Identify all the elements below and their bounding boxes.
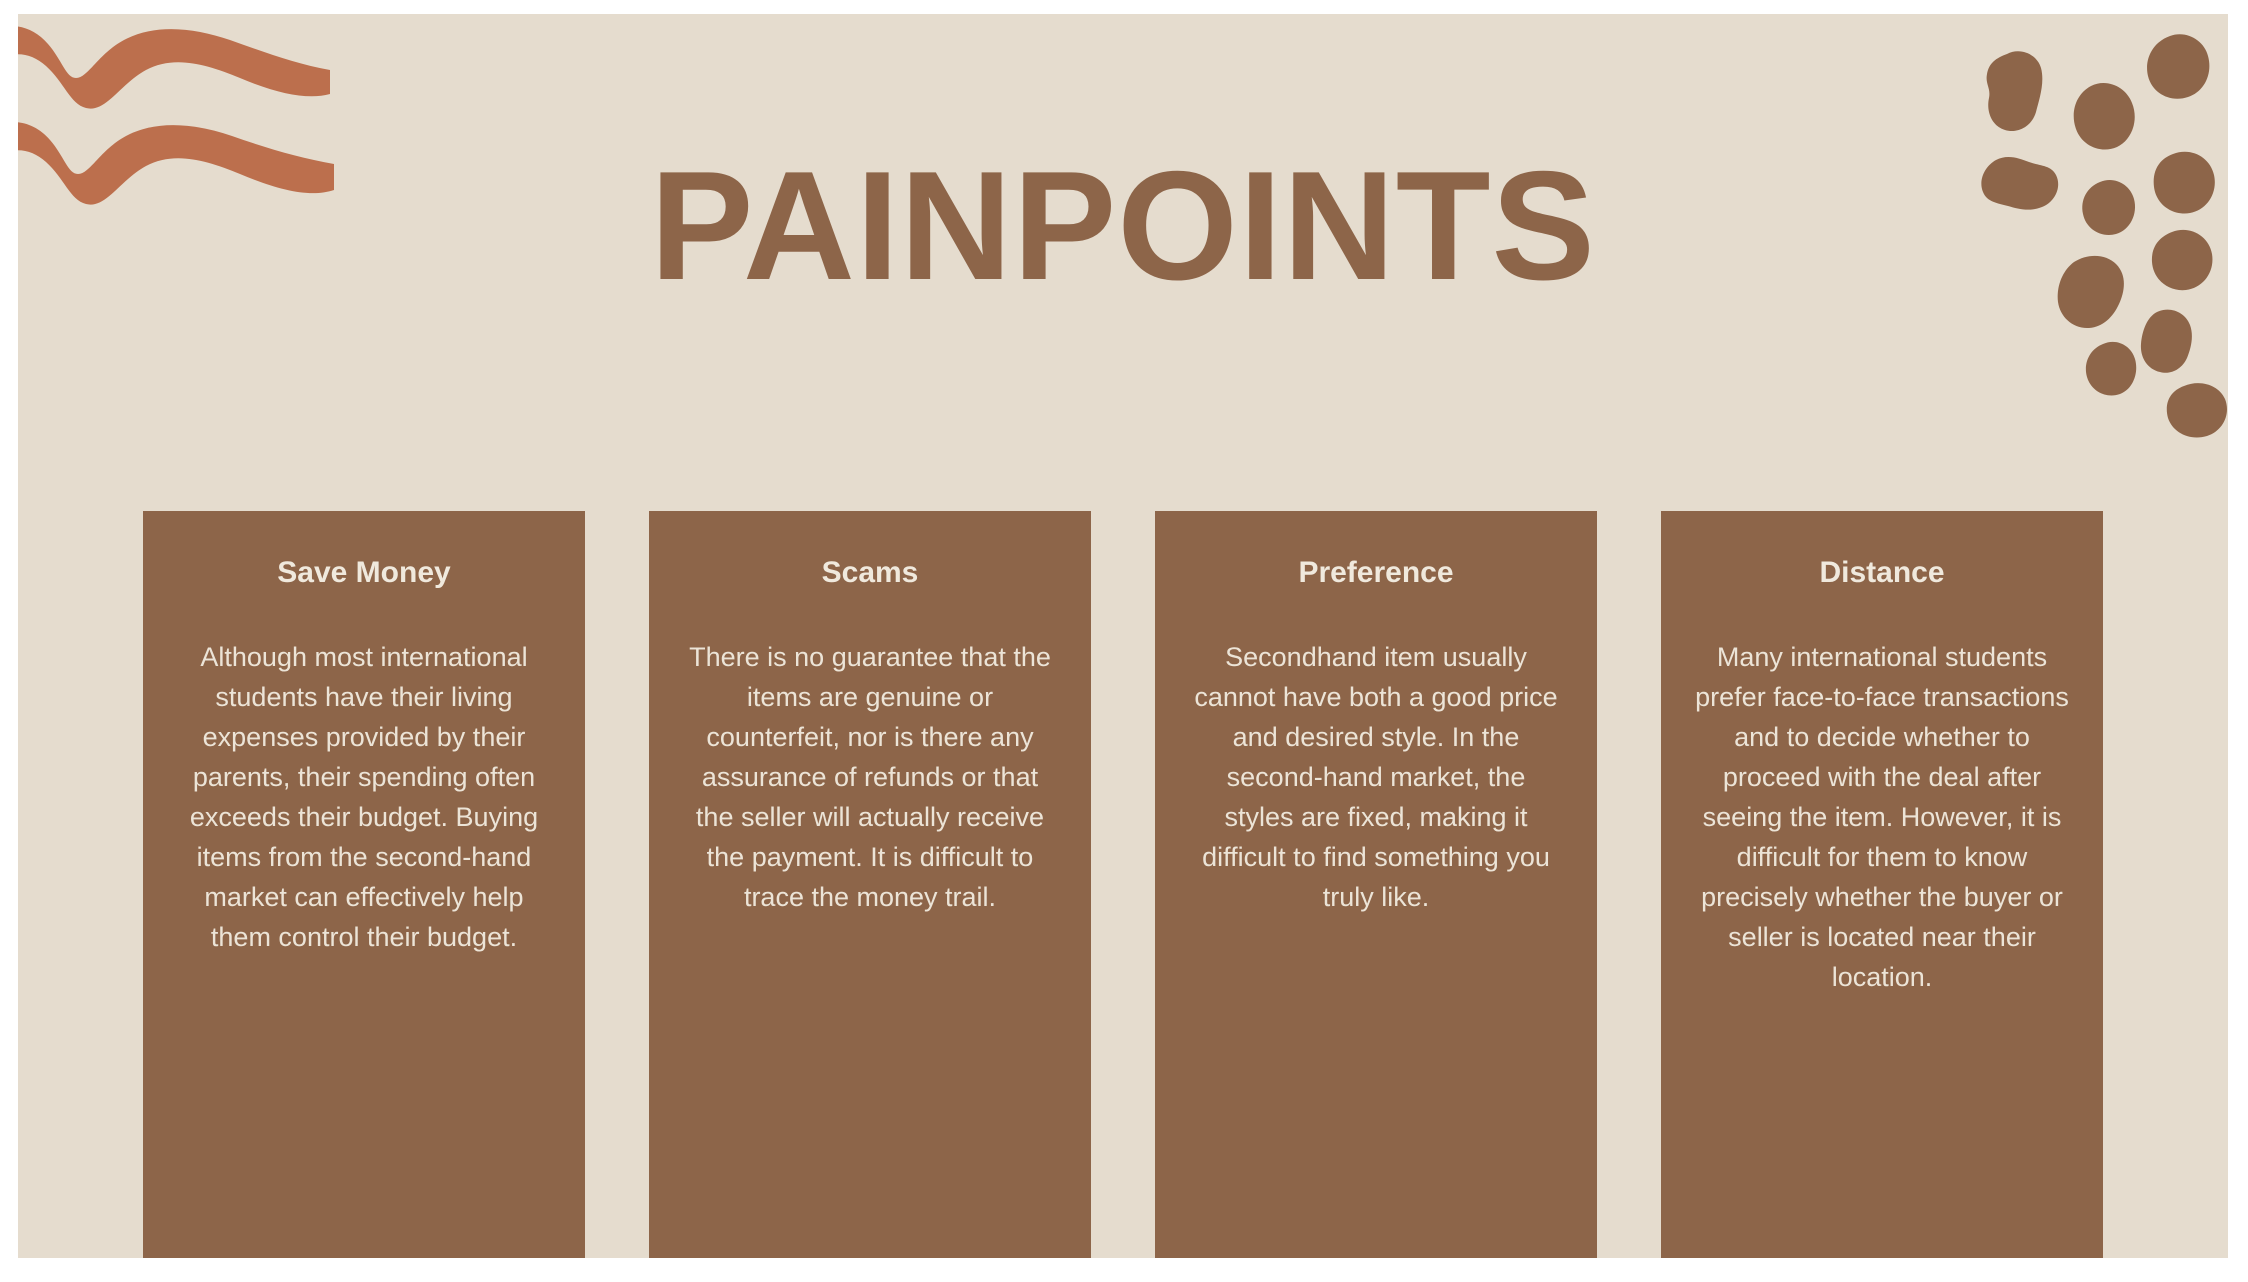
painpoint-card[interactable]: Scams There is no guarantee that the ite… (649, 511, 1091, 1258)
card-title: Save Money (171, 555, 557, 591)
painpoint-card[interactable]: Distance Many international students pre… (1661, 511, 2103, 1258)
card-title: Preference (1183, 555, 1569, 591)
painpoint-card[interactable]: Save Money Although most international s… (143, 511, 585, 1258)
slide-canvas: PAINPOINTS Save Money Although most inte… (18, 14, 2228, 1258)
card-title: Scams (677, 555, 1063, 591)
page-title: PAINPOINTS (18, 142, 2228, 309)
card-body: Although most international students hav… (171, 637, 557, 957)
card-body: There is no guarantee that the items are… (677, 637, 1063, 917)
card-title: Distance (1689, 555, 2075, 591)
card-body: Secondhand item usually cannot have both… (1183, 637, 1569, 917)
painpoint-card[interactable]: Preference Secondhand item usually canno… (1155, 511, 1597, 1258)
card-body: Many international students prefer face-… (1689, 637, 2075, 997)
painpoint-card-row: Save Money Although most international s… (143, 511, 2103, 1258)
